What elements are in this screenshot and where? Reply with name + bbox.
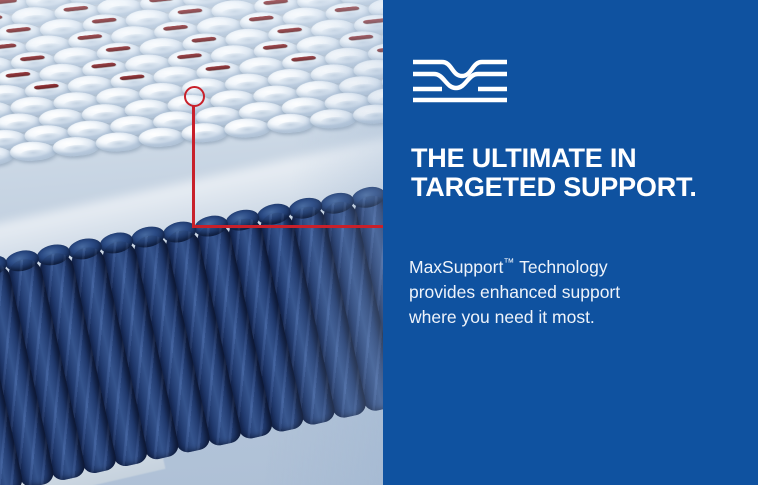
coil-red-tab	[348, 34, 374, 40]
coil-red-tab	[19, 55, 45, 61]
body-line-1-rest: Technology	[515, 257, 608, 277]
coil-red-tab	[91, 62, 117, 68]
navy-coil-cap	[66, 235, 104, 262]
navy-coil-cap	[98, 230, 136, 257]
body-line-3: where you need it most.	[409, 305, 699, 330]
coil-red-tab	[0, 15, 3, 21]
mattress-coil-photo	[0, 0, 383, 485]
navy-coil-cap	[192, 212, 230, 239]
brand-name: MaxSupport	[409, 257, 503, 277]
trademark-symbol: ™	[503, 257, 514, 269]
coil-red-tab	[334, 6, 360, 12]
coil-red-tab	[0, 43, 17, 49]
coil-red-tab	[5, 27, 31, 33]
coil-top	[91, 130, 145, 153]
promo-banner: THE ULTIMATE IN TARGETED SUPPORT. MaxSup…	[0, 0, 758, 485]
coil-red-tab	[277, 27, 303, 33]
coil-red-tab	[263, 0, 289, 5]
navy-coil-cap	[129, 224, 167, 251]
coil-red-tab	[105, 46, 131, 52]
coil-red-tab	[248, 15, 274, 21]
coil-red-tab	[148, 0, 174, 3]
coil-red-tab	[162, 25, 188, 31]
coil-red-tab	[77, 34, 103, 40]
coil-top	[48, 135, 102, 158]
navy-coil-cap	[3, 247, 41, 274]
coil-red-tab	[262, 44, 288, 50]
navy-coil-cap	[255, 201, 293, 228]
coil-red-tab	[176, 53, 202, 59]
coil-red-tab	[290, 56, 316, 62]
coil-red-tab	[119, 74, 145, 80]
coil-red-tab	[205, 65, 231, 71]
navy-coil-cap	[350, 184, 383, 211]
coil-red-tab	[63, 6, 89, 12]
coil-red-tab	[177, 8, 203, 14]
coil-red-tab	[362, 18, 383, 24]
wave-lines-logo	[412, 58, 508, 104]
headline-line-1: THE ULTIMATE IN	[411, 144, 711, 173]
body-line-1: MaxSupport™ Technology	[409, 251, 699, 280]
headline-line-2: TARGETED SUPPORT.	[411, 173, 711, 202]
coil-red-tab	[91, 17, 117, 23]
coil-red-tab	[376, 46, 383, 52]
navy-coil-cap	[35, 241, 73, 268]
coil-top	[134, 126, 188, 149]
page-title: THE ULTIMATE IN TARGETED SUPPORT.	[411, 144, 711, 202]
coil-red-tab	[5, 72, 31, 78]
coil-top	[6, 140, 60, 163]
navy-coil-cap	[318, 189, 356, 216]
body-line-2: provides enhanced support	[409, 280, 699, 305]
navy-coil-cap	[224, 207, 262, 234]
coil-red-tab	[0, 0, 18, 5]
coil-red-tab	[191, 36, 217, 42]
navy-coil-cap	[161, 218, 199, 245]
coil-red-tab	[33, 83, 59, 89]
navy-coil-cap	[287, 195, 325, 222]
body-copy: MaxSupport™ Technology provides enhanced…	[409, 251, 699, 330]
